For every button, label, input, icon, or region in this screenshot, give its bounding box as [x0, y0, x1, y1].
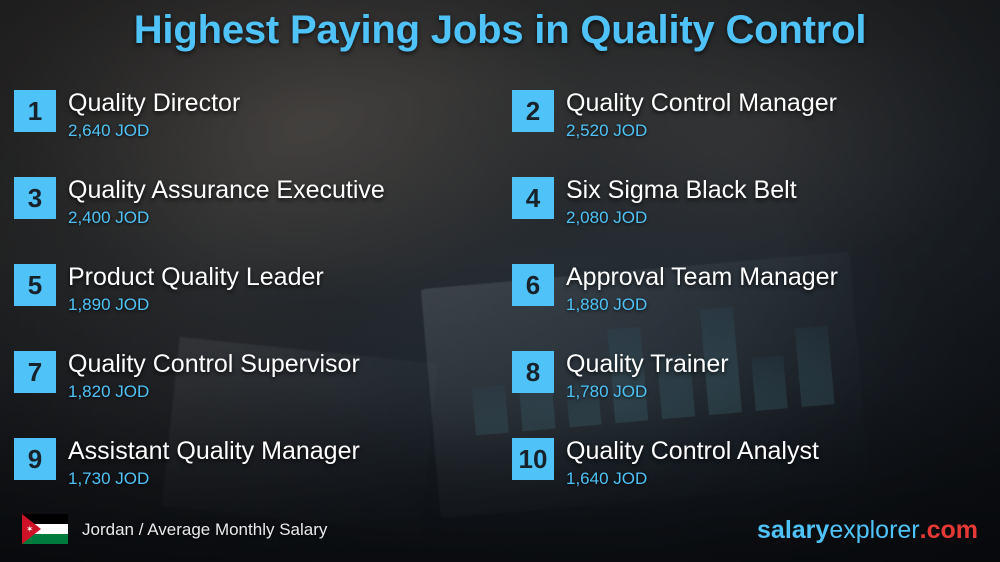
rank-badge: 5: [14, 264, 56, 306]
list-item: 4 Six Sigma Black Belt 2,080 JOD: [512, 175, 992, 251]
list-item: 7 Quality Control Supervisor 1,820 JOD: [14, 349, 504, 425]
rank-badge: 3: [14, 177, 56, 219]
job-salary: 2,400 JOD: [68, 208, 385, 228]
job-text: Product Quality Leader 1,890 JOD: [68, 262, 324, 315]
job-salary: 1,820 JOD: [68, 382, 360, 402]
brand-part-domain: .com: [920, 516, 978, 544]
job-salary: 1,640 JOD: [566, 469, 819, 489]
jordan-flag-icon: ✶: [22, 514, 68, 544]
rank-badge: 10: [512, 438, 554, 480]
job-text: Six Sigma Black Belt 2,080 JOD: [566, 175, 797, 228]
rank-badge: 2: [512, 90, 554, 132]
job-text: Quality Director 2,640 JOD: [68, 88, 240, 141]
rank-badge: 9: [14, 438, 56, 480]
job-title: Quality Director: [68, 88, 240, 118]
job-text: Quality Assurance Executive 2,400 JOD: [68, 175, 385, 228]
job-salary: 1,880 JOD: [566, 295, 838, 315]
job-title: Assistant Quality Manager: [68, 436, 360, 466]
rank-badge: 6: [512, 264, 554, 306]
job-salary: 2,520 JOD: [566, 121, 837, 141]
job-text: Quality Control Manager 2,520 JOD: [566, 88, 837, 141]
job-title: Quality Trainer: [566, 349, 729, 379]
footer: ✶ Jordan / Average Monthly Salary salary…: [0, 500, 1000, 562]
rank-badge: 8: [512, 351, 554, 393]
rank-badge: 7: [14, 351, 56, 393]
brand-part-salary: salary: [757, 516, 829, 544]
job-text: Quality Control Supervisor 1,820 JOD: [68, 349, 360, 402]
rank-badge: 1: [14, 90, 56, 132]
job-title: Six Sigma Black Belt: [566, 175, 797, 205]
job-list: 1 Quality Director 2,640 JOD 2 Quality C…: [0, 80, 1000, 500]
page-title: Highest Paying Jobs in Quality Control: [0, 8, 1000, 53]
job-text: Assistant Quality Manager 1,730 JOD: [68, 436, 360, 489]
job-text: Quality Control Analyst 1,640 JOD: [566, 436, 819, 489]
job-salary: 2,080 JOD: [566, 208, 797, 228]
job-title: Quality Control Manager: [566, 88, 837, 118]
infographic-page: Highest Paying Jobs in Quality Control 1…: [0, 0, 1000, 562]
list-item: 8 Quality Trainer 1,780 JOD: [512, 349, 992, 425]
job-title: Product Quality Leader: [68, 262, 324, 292]
brand-part-explorer: explorer: [829, 516, 919, 544]
job-title: Quality Assurance Executive: [68, 175, 385, 205]
job-salary: 1,890 JOD: [68, 295, 324, 315]
job-title: Quality Control Analyst: [566, 436, 819, 466]
list-item: 1 Quality Director 2,640 JOD: [14, 88, 504, 164]
job-title: Quality Control Supervisor: [68, 349, 360, 379]
list-item: 6 Approval Team Manager 1,880 JOD: [512, 262, 992, 338]
job-title: Approval Team Manager: [566, 262, 838, 292]
list-item: 5 Product Quality Leader 1,890 JOD: [14, 262, 504, 338]
job-salary: 2,640 JOD: [68, 121, 240, 141]
list-item: 2 Quality Control Manager 2,520 JOD: [512, 88, 992, 164]
country-salary-caption: Jordan / Average Monthly Salary: [82, 520, 327, 540]
job-text: Quality Trainer 1,780 JOD: [566, 349, 729, 402]
list-item: 3 Quality Assurance Executive 2,400 JOD: [14, 175, 504, 251]
job-salary: 1,730 JOD: [68, 469, 360, 489]
job-text: Approval Team Manager 1,880 JOD: [566, 262, 838, 315]
job-salary: 1,780 JOD: [566, 382, 729, 402]
rank-badge: 4: [512, 177, 554, 219]
brand-logo[interactable]: salaryexplorer.com: [757, 516, 978, 545]
